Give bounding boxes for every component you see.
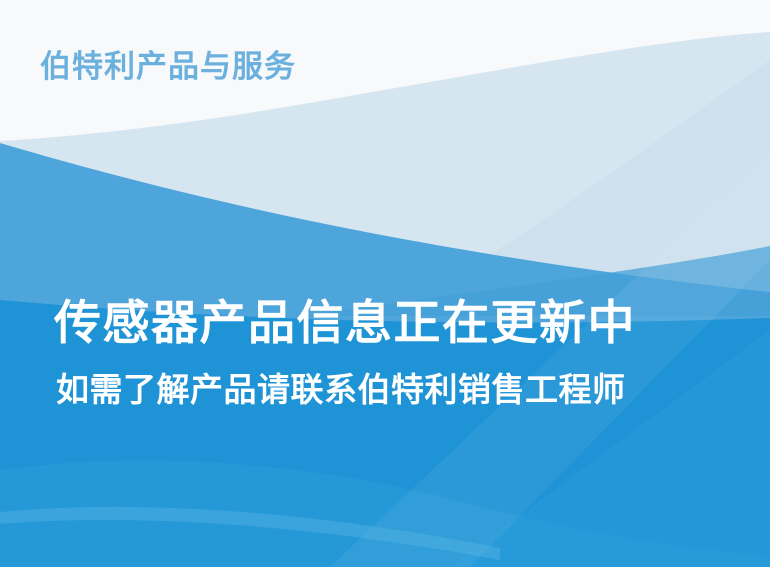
- headline-block: 传感器产品信息正在更新中 如需了解产品请联系伯特利销售工程师: [0, 296, 770, 409]
- sub-headline: 如需了解产品请联系伯特利销售工程师: [0, 351, 770, 409]
- brand-title: 伯特利产品与服务: [40, 48, 296, 85]
- main-headline: 传感器产品信息正在更新中: [0, 296, 770, 351]
- product-banner: 伯特利产品与服务 传感器产品信息正在更新中 如需了解产品请联系伯特利销售工程师: [0, 0, 770, 567]
